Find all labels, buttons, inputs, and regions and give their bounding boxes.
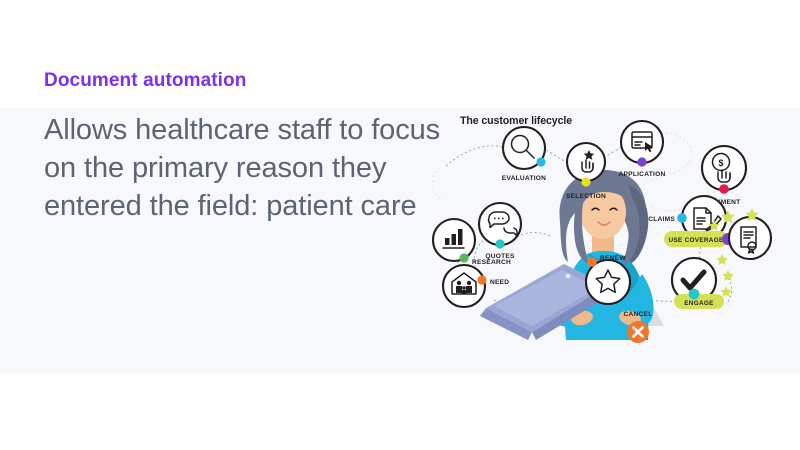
- node-dot: [637, 157, 646, 166]
- badge-dot: [689, 289, 700, 300]
- badge-engage[interactable]: ENGAGE: [672, 258, 724, 309]
- node-dot: [536, 157, 545, 166]
- node-dot: [719, 184, 729, 194]
- section-eyebrow: Document automation: [44, 70, 444, 93]
- node-dot: [495, 239, 504, 248]
- lifecycle-node-quotes[interactable]: QUOTES: [479, 203, 521, 260]
- node-dot: [587, 257, 597, 267]
- badge-label: ENGAGE: [684, 300, 714, 307]
- lifecycle-node-label: EVALUATION: [502, 175, 546, 182]
- lifecycle-node-application[interactable]: APPLICATION: [619, 121, 666, 178]
- node-dot: [677, 213, 687, 223]
- text-column: Document automation Allows healthcare st…: [44, 70, 444, 226]
- lifecycle-node-label: SELECTION: [566, 193, 606, 200]
- node-dot: [477, 275, 486, 284]
- lifecycle-node-label: CANCEL: [624, 311, 653, 318]
- lifecycle-node-label: CLAIMS: [648, 216, 675, 223]
- lifecycle-node-label: RESEARCH: [472, 259, 511, 266]
- lifecycle-node-label: APPLICATION: [619, 171, 666, 178]
- customer-lifecycle-illustration: The customer lifecycle: [432, 104, 800, 350]
- badge-label: USE COVERAGE: [668, 237, 724, 244]
- node-dot: [459, 253, 468, 262]
- lifecycle-node-evaluation[interactable]: EVALUATION: [502, 127, 546, 182]
- lifecycle-node-label: RENEW: [600, 255, 626, 262]
- slide-canvas: Document automation Allows healthcare st…: [0, 0, 800, 450]
- page-title: Allows healthcare staff to focus on the …: [44, 111, 444, 226]
- node-dot: [581, 177, 590, 186]
- svg-text:$: $: [718, 158, 723, 168]
- illustration-title: The customer lifecycle: [460, 115, 572, 127]
- lifecycle-node-label: NEED: [490, 279, 509, 286]
